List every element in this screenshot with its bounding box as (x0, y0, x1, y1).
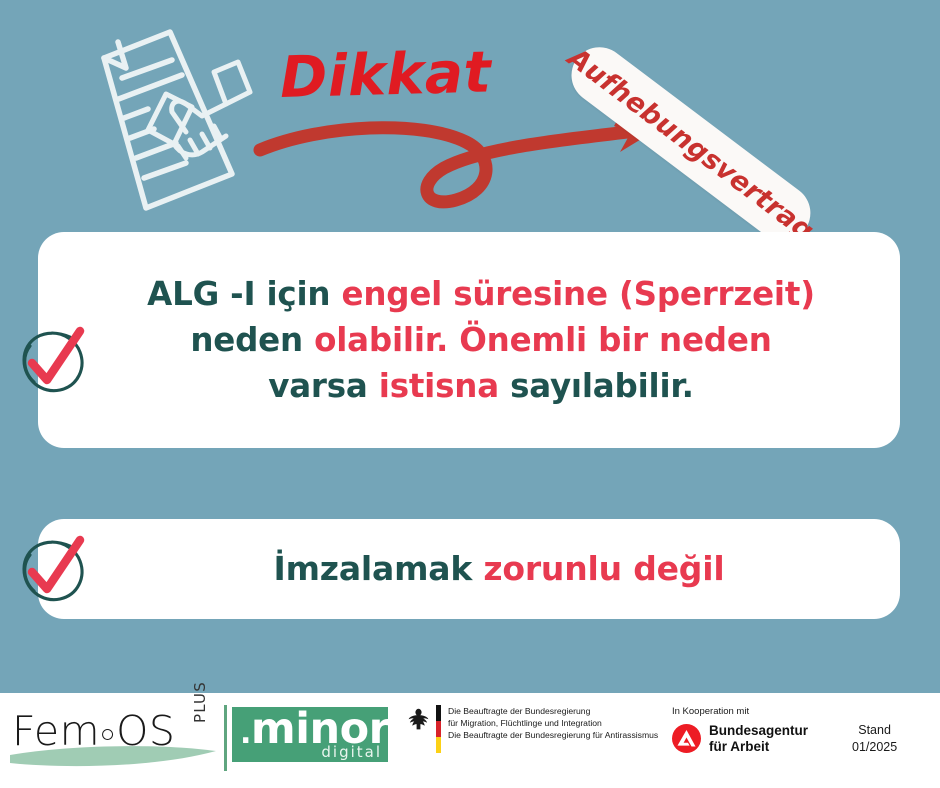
info-card-imzalamak: İmzalamak zorunlu değil (38, 519, 900, 619)
femos-dot: ○ (100, 719, 116, 748)
hero-section: Dikkat Aufhebungsvertrag (0, 0, 940, 230)
document-handshake-icon (74, 22, 269, 222)
check-circle-icon (16, 531, 92, 607)
info-card-sperrzeit: ALG -I için engel süresine (Sperrzeit) n… (38, 232, 900, 448)
german-flag-bar (436, 705, 441, 753)
check-circle-icon (16, 322, 92, 398)
federal-government-logo: Die Beauftragte der Bundesregierung für … (408, 704, 658, 753)
bundesagentur-cooperation-block: In Kooperation mit Bundesagentur für Arb… (672, 706, 842, 755)
bundesagentur-arbeit-logo-icon (672, 724, 701, 753)
bundesagentur-wordmark: Bundesagentur für Arbeit (709, 723, 808, 755)
cooperation-prefix: In Kooperation mit (672, 706, 842, 717)
card-line: neden olabilir. Önemli bir neden (108, 317, 854, 363)
card-line: varsa istisna sayılabilir. (108, 363, 854, 409)
stand-date: Stand 01/2025 (852, 722, 897, 756)
federal-eagle-icon (408, 706, 429, 730)
card-line: İmzalamak zorunlu değil (134, 549, 864, 589)
federal-government-lines: Die Beauftragte der Bundesregierung für … (448, 704, 658, 742)
card-text-sperrzeit: ALG -I için engel süresine (Sperrzeit) n… (38, 271, 900, 409)
femos-plus-label: PLUS (191, 681, 209, 723)
stand-label: Stand (852, 722, 897, 739)
minor-sublabel: digital (321, 743, 382, 761)
card-text-imzalamak: İmzalamak zorunlu değil (38, 549, 900, 589)
footer-divider (224, 705, 227, 771)
femos-wordmark: Fem○OS (12, 707, 175, 755)
card-line: ALG -I için engel süresine (Sperrzeit) (108, 271, 854, 317)
femos-plus-logo: Fem○OS PLUS (8, 701, 218, 773)
minor-digital-logo: .minor digital (232, 707, 388, 762)
stand-value: 01/2025 (852, 739, 897, 756)
poster-canvas: Dikkat Aufhebungsvertrag ALG -I için eng… (0, 0, 940, 788)
page-title: Dikkat (279, 44, 492, 107)
